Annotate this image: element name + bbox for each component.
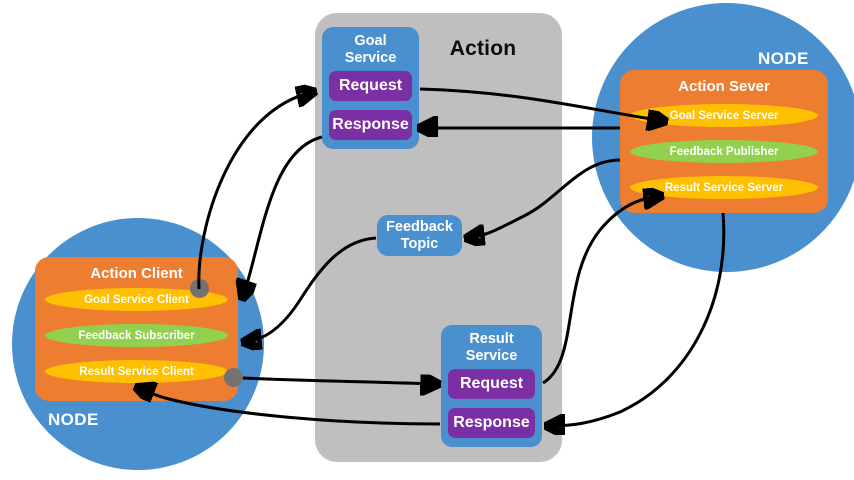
feedback-topic-label: Feedback Topic [386, 219, 453, 253]
arrow-goal-response-to-goal-client-pill [243, 137, 322, 297]
diagram-canvas: Action Action Client Goal Service Client… [0, 0, 854, 480]
result-service-request-chip: Request [448, 369, 535, 399]
goal-service-title-line2: Service [345, 50, 397, 66]
pill-result-service-server: Result Service Server [630, 176, 818, 199]
pill-feedback-subscriber: Feedback Subscriber [45, 324, 228, 347]
server-node-label: NODE [758, 49, 809, 69]
action-server-panel: Action Sever Goal Service Server Feedbac… [620, 70, 828, 213]
pill-goal-service-server: Goal Service Server [630, 104, 818, 127]
action-client-panel: Action Client Goal Service Client Feedba… [35, 257, 238, 401]
goal-service-response-chip: Response [329, 110, 412, 140]
result-service-box: Result Service Request Response [441, 325, 542, 447]
result-service-response-chip: Response [448, 408, 535, 438]
feedback-topic-label-line2: Topic [401, 236, 439, 252]
action-group-label: Action [418, 37, 548, 61]
result-service-title: Result Service [441, 331, 542, 365]
client-node-label: NODE [48, 410, 99, 430]
goal-client-connector-dot [190, 279, 209, 298]
action-server-title: Action Sever [620, 78, 828, 95]
pill-feedback-publisher: Feedback Publisher [630, 140, 818, 163]
feedback-topic-box: Feedback Topic [377, 215, 462, 256]
goal-service-title-line1: Goal [354, 33, 386, 49]
feedback-topic-label-line1: Feedback [386, 219, 453, 235]
pill-result-service-client: Result Service Client [45, 360, 228, 383]
result-service-title-line2: Service [466, 348, 518, 364]
result-client-connector-dot [224, 368, 243, 387]
goal-service-title: Goal Service [322, 33, 419, 67]
action-client-title: Action Client [35, 265, 238, 282]
goal-service-box: Goal Service Request Response [322, 27, 419, 149]
goal-service-request-chip: Request [329, 71, 412, 101]
result-service-title-line1: Result [469, 331, 513, 347]
